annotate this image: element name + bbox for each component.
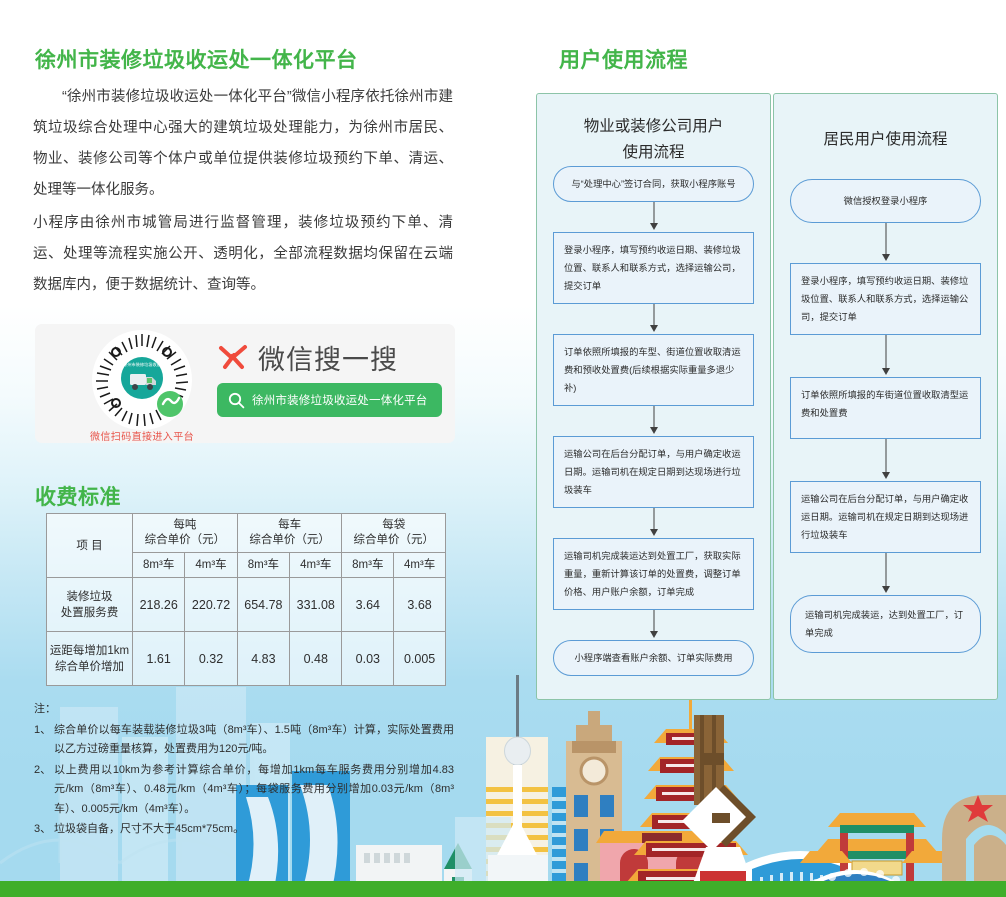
cell-value: 654.78 xyxy=(237,578,289,632)
flow-node-a1[interactable]: 与“处理中心”签订合同，获取小程序账号 xyxy=(553,166,754,202)
panel-a-heading-line1: 物业或装修公司用户 xyxy=(537,114,770,140)
note-text: 综合单价以每车装载装修垃圾3吨（8m³车）、1.5吨（8m³车）计算，实际处置费… xyxy=(54,721,454,760)
intro-paragraph-2: 小程序由徐州市城管局进行监督管理，装修垃圾预约下单、清运、处理等流程实施公开、透… xyxy=(33,208,453,301)
row-label-line2: 处置服务费 xyxy=(61,607,119,619)
subheader-cell: 8m³车 xyxy=(133,553,185,578)
flow-arrow xyxy=(790,439,981,481)
flow-node-a4[interactable]: 运输公司在后台分配订单，与用户确定收运日期。运输司机在规定日期到达现场进行垃圾装… xyxy=(553,436,754,508)
group-price: 综合单价（元） xyxy=(353,534,434,546)
fee-notes: 注： 1、 综合单价以每车装载装修垃圾3吨（8m³车）、1.5吨（8m³车）计算… xyxy=(34,700,454,840)
flow-node-b1[interactable]: 微信授权登录小程序 xyxy=(790,179,981,223)
flowchart-panel-company: 物业或装修公司用户 使用流程 与“处理中心”签订合同，获取小程序账号 登录小程序… xyxy=(536,93,771,700)
wechat-search-flower-icon xyxy=(217,342,249,372)
subheader-cell: 4m³车 xyxy=(185,553,237,578)
flow-section-title: 用户使用流程 xyxy=(559,44,688,74)
flow-arrow xyxy=(553,610,754,640)
table-row: 运距每增加1km 综合单价增加 1.61 0.32 4.83 0.48 0.03… xyxy=(47,632,446,686)
row-label: 装修垃圾 处置服务费 xyxy=(47,578,133,632)
flow-node-a2[interactable]: 登录小程序，填写预约收运日期、装修垃圾位置、联系人和联系方式，选择运输公司，提交… xyxy=(553,232,754,304)
footer-bar xyxy=(0,881,1006,897)
intro-paragraph-1: “徐州市装修垃圾收运处一体化平台”微信小程序依托徐州市建筑垃圾综合处理中心强大的… xyxy=(33,82,453,206)
panel-b-heading: 居民用户使用流程 xyxy=(774,94,997,153)
flow-arrow xyxy=(553,202,754,232)
fee-section-title: 收费标准 xyxy=(35,481,121,511)
flow-arrow xyxy=(553,304,754,334)
cell-value: 0.48 xyxy=(290,632,342,686)
header-group-per-vehicle: 每车 综合单价（元） xyxy=(237,514,342,553)
cell-value: 3.64 xyxy=(342,578,394,632)
subheader-cell: 4m³车 xyxy=(394,553,446,578)
cell-value: 220.72 xyxy=(185,578,237,632)
subheader-cell: 8m³车 xyxy=(342,553,394,578)
flowchart-panel-resident: 居民用户使用流程 微信授权登录小程序 登录小程序，填写预约收运日期、装修垃圾位置… xyxy=(773,93,998,700)
wechat-search-button[interactable]: 徐州市装修垃圾收运处一体化平台 xyxy=(217,383,442,417)
panel-a-nodes: 与“处理中心”签订合同，获取小程序账号 登录小程序，填写预约收运日期、装修垃圾位… xyxy=(537,166,770,676)
cell-value: 0.03 xyxy=(342,632,394,686)
cell-value: 0.32 xyxy=(185,632,237,686)
cell-value: 218.26 xyxy=(133,578,185,632)
cell-value: 0.005 xyxy=(394,632,446,686)
panel-b-heading-line1: 居民用户使用流程 xyxy=(774,127,997,153)
group-price: 综合单价（元） xyxy=(145,534,226,546)
table-row: 装修垃圾 处置服务费 218.26 220.72 654.78 331.08 3… xyxy=(47,578,446,632)
svg-text:徐州市装修垃圾收运: 徐州市装修垃圾收运 xyxy=(123,361,162,368)
group-unit: 每袋 xyxy=(382,519,405,531)
wechat-search-brand-text: 微信搜一搜 xyxy=(258,338,398,377)
page-title: 徐州市装修垃圾收运处一体化平台 xyxy=(35,44,358,74)
flow-arrow xyxy=(790,223,981,263)
note-mark: 3、 xyxy=(34,820,54,840)
wechat-search-block: 微信搜一搜 徐州市装修垃圾收运处一体化平台 xyxy=(217,340,442,417)
notes-title: 注： xyxy=(34,700,454,720)
note-item: 3、 垃圾袋自备，尺寸不大于45cm*75cm。 xyxy=(34,820,454,840)
header-group-per-ton: 每吨 综合单价（元） xyxy=(133,514,238,553)
qr-code-block: 徐州市装修垃圾收运 微信扫码直接进入平台 xyxy=(87,330,197,443)
note-mark: 2、 xyxy=(34,761,54,820)
left-column: 徐州市装修垃圾收运处一体化平台 “徐州市装修垃圾收运处一体化平台”微信小程序依托… xyxy=(0,0,480,897)
wechat-miniprogram-icon xyxy=(157,391,183,417)
wechat-search-label: 徐州市装修垃圾收运处一体化平台 xyxy=(252,392,428,408)
header-group-per-bag: 每袋 综合单价（元） xyxy=(342,514,446,553)
wechat-entry-panel: 徐州市装修垃圾收运 微信扫码直接进入平台 微信搜一搜 xyxy=(35,324,455,443)
flow-arrow xyxy=(790,335,981,377)
flow-node-a6[interactable]: 小程序端查看账户余额、订单实际费用 xyxy=(553,640,754,676)
subheader-cell: 8m³车 xyxy=(237,553,289,578)
flow-node-b4[interactable]: 运输公司在后台分配订单，与用户确定收运日期。运输司机在规定日期到达现场进行垃圾装… xyxy=(790,481,981,553)
flow-node-b5[interactable]: 运输司机完成装运，达到处置工厂，订单完成 xyxy=(790,595,981,653)
flow-node-a5[interactable]: 运输司机完成装运达到处置工厂，获取实际重量，重新计算该订单的处置费，调整订单价格… xyxy=(553,538,754,610)
panel-b-nodes: 微信授权登录小程序 登录小程序，填写预约收运日期、装修垃圾位置、联系人和联系方式… xyxy=(774,179,997,653)
header-item: 项 目 xyxy=(47,514,133,578)
subheader-cell: 4m³车 xyxy=(290,553,342,578)
note-text: 以上费用以10km为参考计算综合单价，每增加1km每车服务费用分别增加4.83元… xyxy=(54,761,454,820)
fee-standard-table: 项 目 每吨 综合单价（元） 每车 综合单价（元） 每袋 综合单价（元） 8m³… xyxy=(46,513,446,686)
panel-a-heading-line2: 使用流程 xyxy=(537,140,770,166)
flow-node-b2[interactable]: 登录小程序，填写预约收运日期、装修垃圾位置、联系人和联系方式，选择运输公司，提交… xyxy=(790,263,981,335)
group-price: 综合单价（元） xyxy=(249,534,330,546)
row-label-line1: 运距每增加1km xyxy=(50,645,129,657)
row-label-line1: 装修垃圾 xyxy=(67,591,113,603)
group-unit: 每车 xyxy=(278,519,301,531)
note-text: 垃圾袋自备，尺寸不大于45cm*75cm。 xyxy=(54,820,454,840)
flow-node-b3[interactable]: 订单依照所填报的车街道位置收取清型运费和处置费 xyxy=(790,377,981,439)
cell-value: 331.08 xyxy=(290,578,342,632)
wechat-search-brand: 微信搜一搜 xyxy=(217,340,442,374)
flow-arrow xyxy=(553,508,754,538)
cell-value: 3.68 xyxy=(394,578,446,632)
search-icon xyxy=(228,392,245,409)
qr-code-icon: 徐州市装修垃圾收运 xyxy=(92,330,192,430)
table-header-row-1: 项 目 每吨 综合单价（元） 每车 综合单价（元） 每袋 综合单价（元） xyxy=(47,514,446,553)
row-label-line2: 综合单价增加 xyxy=(55,661,124,673)
qr-caption: 微信扫码直接进入平台 xyxy=(87,428,197,443)
note-item: 1、 综合单价以每车装载装修垃圾3吨（8m³车）、1.5吨（8m³车）计算，实际… xyxy=(34,721,454,760)
wechat-mini-program-qr-code[interactable]: 徐州市装修垃圾收运 xyxy=(92,330,192,430)
flow-arrow xyxy=(790,553,981,595)
note-item: 2、 以上费用以10km为参考计算综合单价，每增加1km每车服务费用分别增加4.… xyxy=(34,761,454,820)
cell-value: 1.61 xyxy=(133,632,185,686)
cell-value: 4.83 xyxy=(237,632,289,686)
right-column: 用户使用流程 物业或装修公司用户 使用流程 与“处理中心”签订合同，获取小程序账… xyxy=(480,0,1006,897)
note-mark: 1、 xyxy=(34,721,54,760)
panel-a-heading: 物业或装修公司用户 使用流程 xyxy=(537,94,770,166)
flow-node-a3[interactable]: 订单依照所填报的车型、街道位置收取清运费和预收处置费(后续根据实际重量多退少补) xyxy=(553,334,754,406)
group-unit: 每吨 xyxy=(173,519,196,531)
flow-arrow xyxy=(553,406,754,436)
row-label: 运距每增加1km 综合单价增加 xyxy=(47,632,133,686)
